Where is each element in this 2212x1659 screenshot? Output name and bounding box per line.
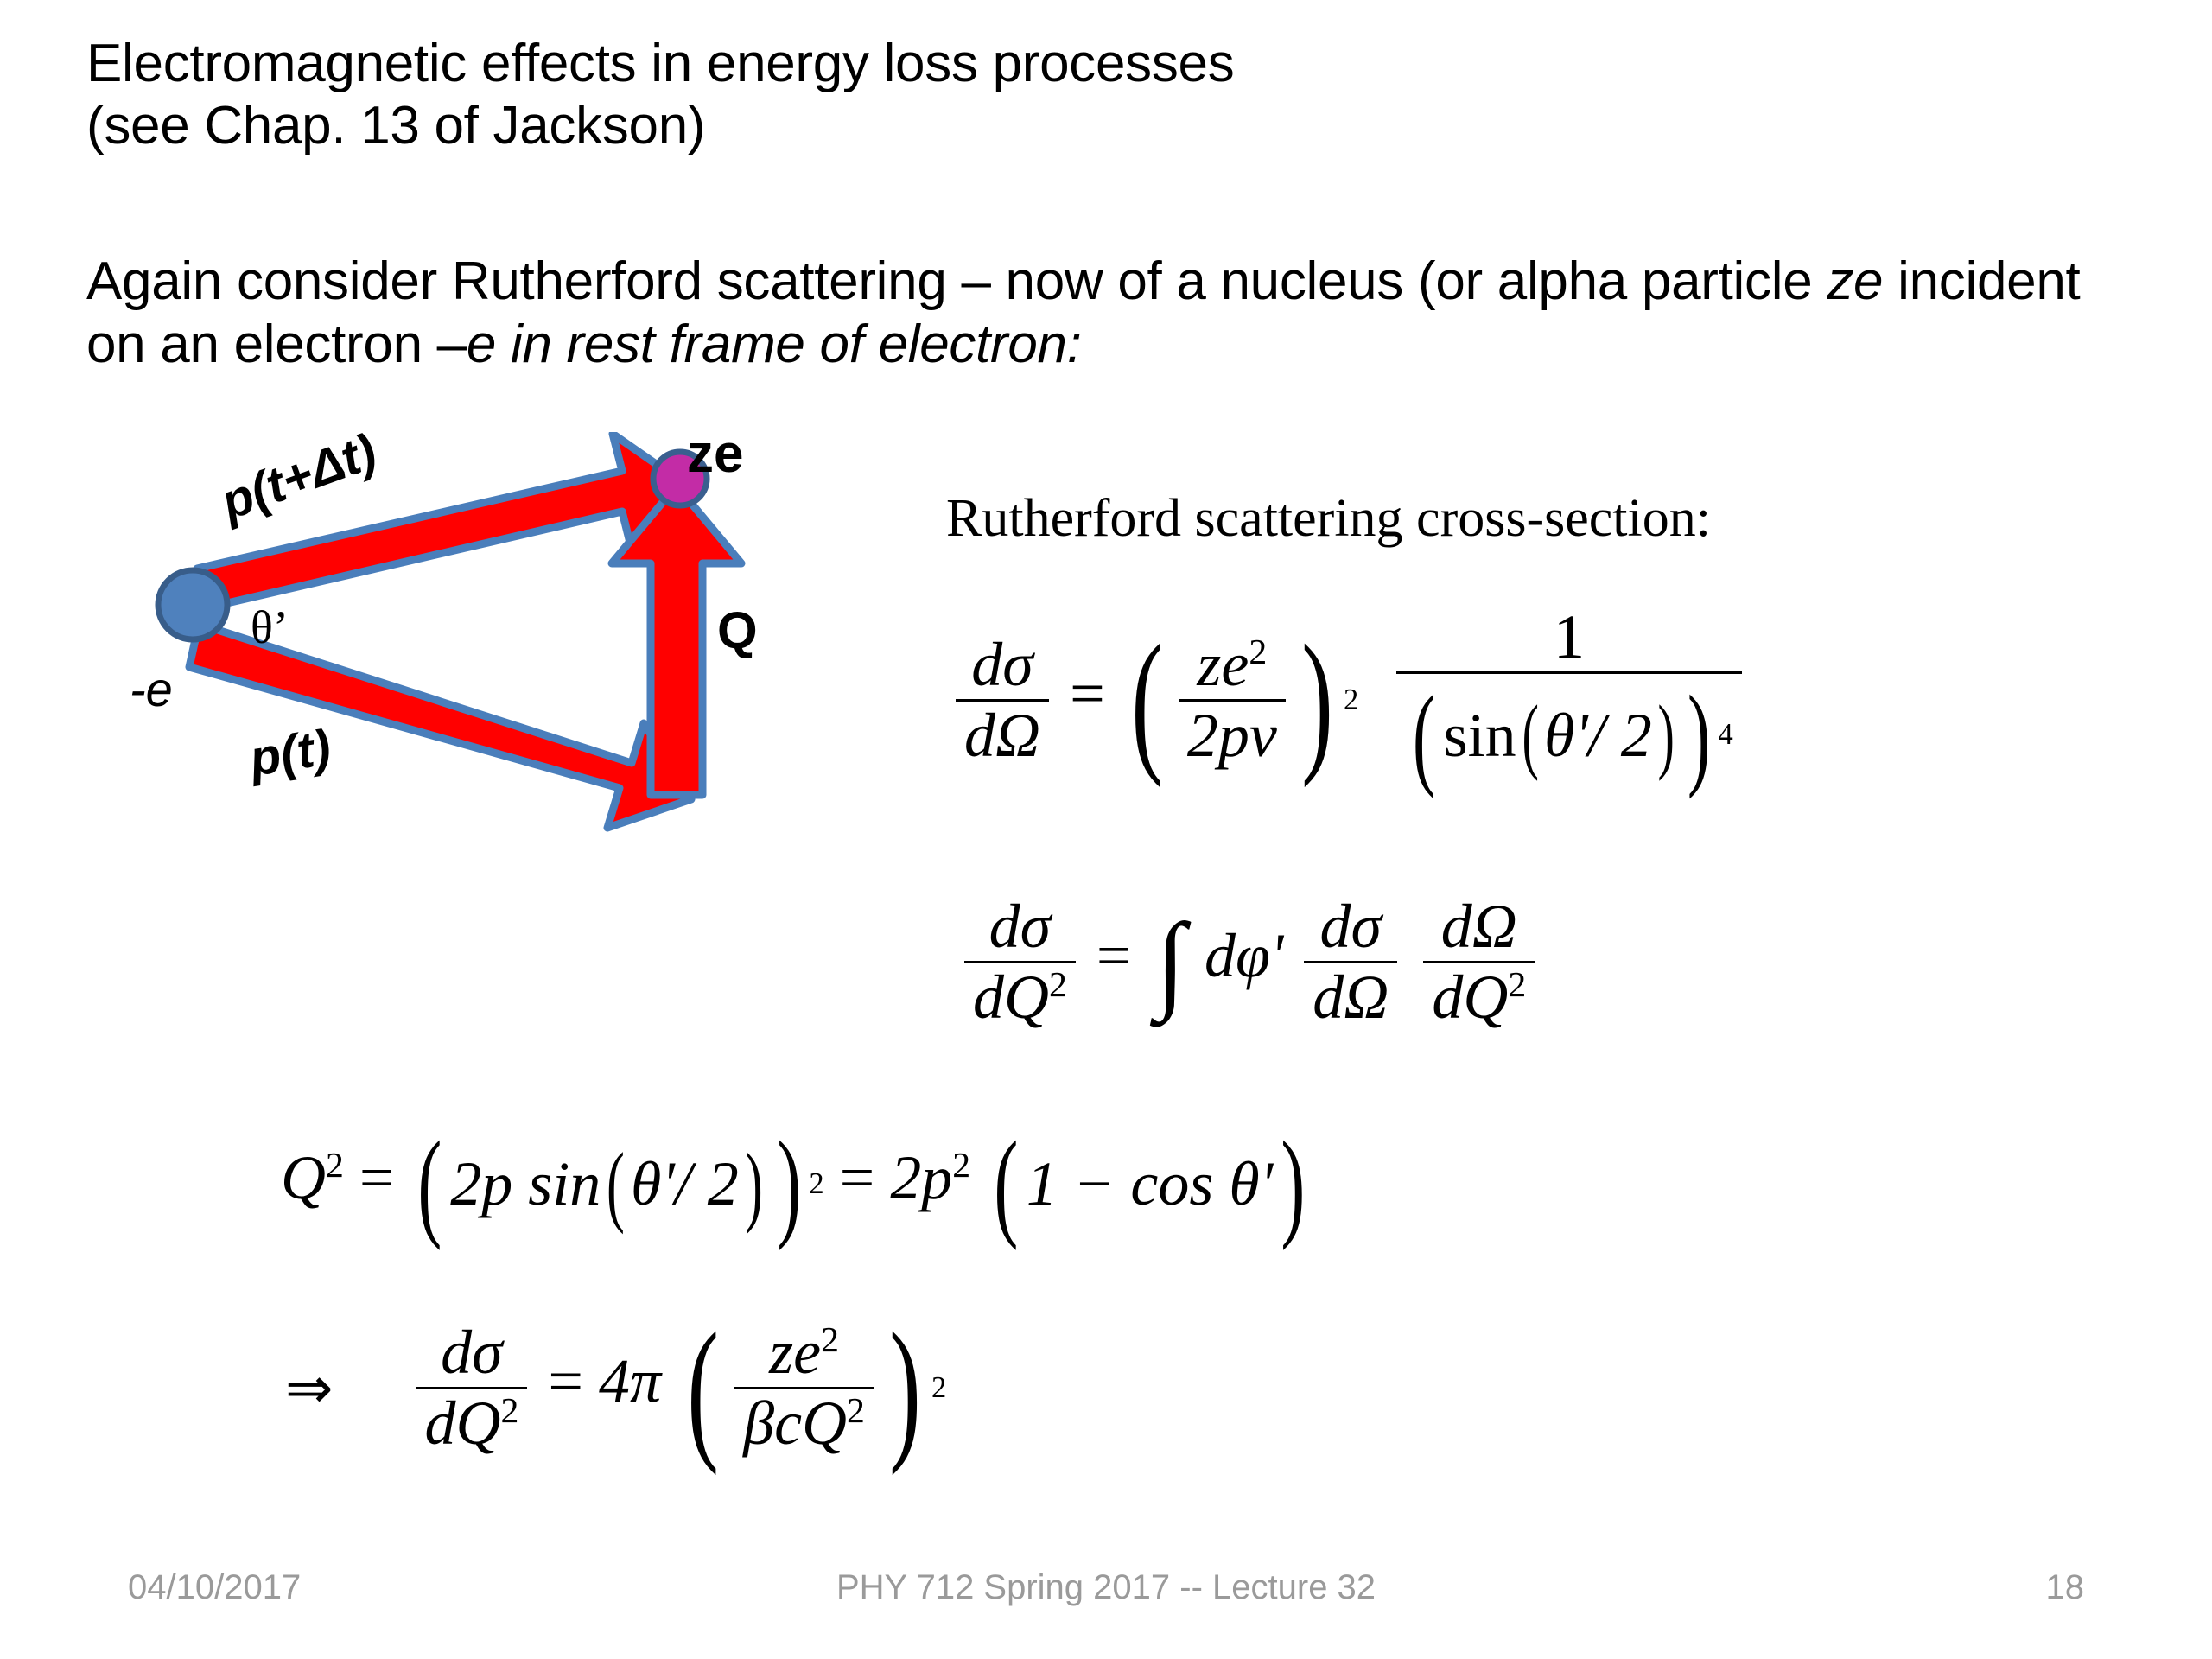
slide-footer: 04/10/2017 PHY 712 Spring 2017 -- Lectur… (0, 1568, 2212, 1620)
diagram-label-ze: ze (687, 423, 743, 485)
eq3-rhs-coefficient: 2p (890, 1143, 952, 1212)
eq3-equals-2: = (840, 1143, 875, 1212)
eq2-factor1-fraction: dσ dΩ (1304, 894, 1397, 1030)
cross-section-heading: Rutherford scattering cross-section: (946, 488, 1711, 550)
eq4-group: ( ze2 βcQ2 ) 2 (677, 1296, 946, 1479)
diagram-label-theta-prime: θ’ (251, 601, 289, 654)
eq2-factor1-numerator: dσ (1312, 894, 1391, 961)
eq1-rhs-numerator: 1 (1545, 605, 1593, 671)
eq3-rhs-group-body: 1 − cos θ' (1027, 1148, 1273, 1220)
diagram-label-minus-e: -e (130, 661, 173, 717)
eq3-arg-close-paren: ) (745, 1133, 763, 1236)
eq3-inner: 2p sin (450, 1148, 601, 1220)
equation-cross-section-vs-Q2: dσ dQ2 = ∫ dφ' dσ dΩ dΩ dQ2 (959, 894, 1540, 1030)
eq3-rhs-open-paren: ( (994, 1115, 1018, 1254)
eq1-group-denominator: 2pv (1179, 699, 1286, 768)
eq1-group-numerator: ze2 (1188, 632, 1275, 699)
eq2-integral-sign: ∫ (1155, 930, 1185, 995)
eq4-group-fraction: ze2 βcQ2 (734, 1320, 874, 1456)
eq1-lhs-denominator: dΩ (956, 699, 1049, 768)
eq2-factor1-denominator: dΩ (1304, 961, 1397, 1030)
slide-title-line-2: (see Chap. 13 of Jackson) (86, 95, 2074, 157)
eq1-arg-open-paren: ( (1522, 692, 1538, 779)
equation-Q-squared: Q2 = ( 2p sin ( θ'/ 2 ) ) 2 = 2p2 ( 1 − … (281, 1115, 1313, 1254)
body-text-rest-frame: e in rest frame of electron: (467, 315, 1082, 374)
eq3-group: ( 2p sin ( θ'/ 2 ) ) 2 (410, 1115, 823, 1254)
eq1-group-fraction: ze2 2pv (1179, 632, 1286, 768)
eq3-rhs-close-paren: ) (1281, 1115, 1306, 1254)
eq4-close-paren: ) (889, 1296, 921, 1479)
eq2-lhs-numerator: dσ (981, 894, 1060, 961)
footer-course-info: PHY 712 Spring 2017 -- Lecture 32 (0, 1568, 2212, 1607)
footer-page-number: 18 (2046, 1568, 2085, 1607)
eq1-den-close-paren: ) (1688, 676, 1711, 796)
eq2-lhs-denominator: dQ2 (964, 961, 1076, 1030)
eq3-arg-open-paren: ( (607, 1133, 625, 1236)
eq4-group-exponent: 2 (931, 1371, 946, 1405)
eq3-open-paren: ( (418, 1115, 442, 1254)
eq4-equals: = (548, 1347, 583, 1416)
eq3-rhs-group: ( 1 − cos θ' ) (986, 1115, 1313, 1254)
eq3-lhs: Q (281, 1143, 326, 1212)
eq4-group-denominator: βcQ2 (734, 1387, 874, 1456)
slide-title: Electromagnetic effects in energy loss p… (86, 33, 2074, 157)
eq2-factor2-numerator: dΩ (1433, 894, 1526, 961)
eq2-equals: = (1096, 921, 1132, 990)
equation-differential-cross-section: dσ dΩ = ( ze2 2pv ) 2 1 (sin(θ'/ 2))4 (950, 605, 1747, 795)
eq1-open-paren: ( (1131, 608, 1163, 791)
eq2-factor2-fraction: dΩ dQ2 (1423, 894, 1535, 1030)
eq4-open-paren: ( (687, 1296, 719, 1479)
eq1-close-paren: ) (1301, 608, 1333, 791)
arrow-p-t (189, 624, 691, 828)
eq4-group-numerator: ze2 (760, 1320, 848, 1387)
eq3-lhs-exponent: 2 (326, 1146, 344, 1185)
eq1-den-open-paren: ( (1413, 676, 1436, 796)
eq1-rhs-denominator: (sin(θ'/ 2))4 (1396, 671, 1742, 796)
eq1-rhs-fraction: 1 (sin(θ'/ 2))4 (1396, 605, 1742, 795)
eq3-equals-1: = (359, 1143, 395, 1212)
equation-final-cross-section: ⇒ dσ dQ2 = 4π ( ze2 βcQ2 ) 2 (285, 1296, 946, 1479)
eq3-inner-arg: θ'/ 2 (631, 1148, 739, 1220)
eq4-lhs-denominator: dQ2 (416, 1387, 528, 1456)
eq1-equals: = (1070, 659, 1105, 728)
eq4-coefficient: 4π (599, 1347, 661, 1416)
eq1-group-exponent: 2 (1344, 683, 1358, 717)
body-text-ze: ze (1827, 251, 1883, 311)
eq1-lhs-fraction: dσ dΩ (956, 632, 1049, 768)
electron-circle (158, 570, 227, 639)
eq2-lhs-fraction: dσ dQ2 (964, 894, 1076, 1030)
implies-arrow-icon: ⇒ (285, 1355, 334, 1421)
body-paragraph: Again consider Rutherford scattering – n… (86, 251, 2100, 376)
diagram-label-Q: Q (717, 601, 758, 660)
eq1-arg-close-paren: ) (1657, 692, 1674, 779)
eq2-measure: dφ' (1205, 921, 1283, 990)
eq1-lhs-numerator: dσ (963, 632, 1042, 699)
eq4-lhs-fraction: dσ dQ2 (416, 1320, 528, 1456)
eq3-close-paren: ) (777, 1115, 801, 1254)
body-text-segment-1: Again consider Rutherford scattering – n… (86, 251, 1827, 311)
eq1-group: ( ze2 2pv ) 2 (1121, 608, 1359, 791)
eq4-lhs-numerator: dσ (432, 1320, 512, 1387)
eq3-rhs-coefficient-exponent: 2 (952, 1146, 970, 1185)
eq2-factor2-denominator: dQ2 (1423, 961, 1535, 1030)
eq3-group-exponent: 2 (809, 1167, 823, 1201)
rutherford-scattering-diagram: ze p(t+Δt) p(t) Q -e θ’ (151, 432, 834, 838)
slide-title-line-1: Electromagnetic effects in energy loss p… (86, 33, 2074, 95)
